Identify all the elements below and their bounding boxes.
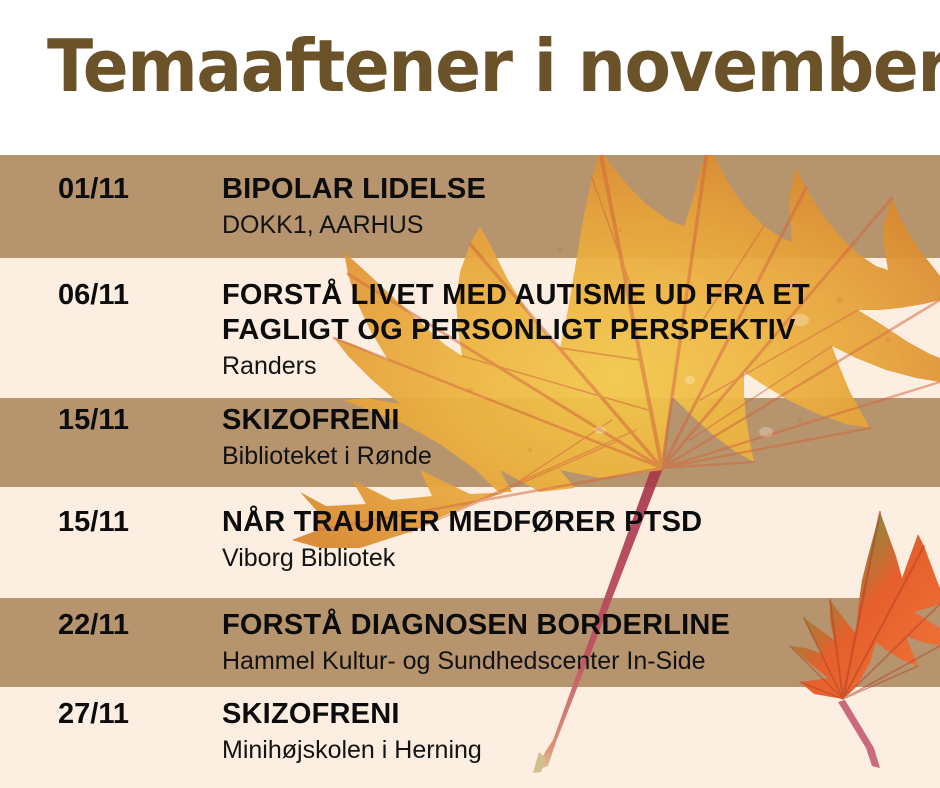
event-title: SKIZOFRENI [222,697,922,732]
event-title: FORSTÅ DIAGNOSEN BORDERLINE [222,608,922,643]
event-body: FORSTÅ LIVET MED AUTISME UD FRA ET FAGLI… [222,278,922,382]
event-body: FORSTÅ DIAGNOSEN BORDERLINE Hammel Kultu… [222,608,922,677]
page-title: Temaaftener i november [47,26,940,106]
event-title: FORSTÅ LIVET MED AUTISME UD FRA ET FAGLI… [222,278,922,348]
event-title: SKIZOFRENI [222,403,922,438]
event-date: 15/11 [58,505,208,539]
event-date: 15/11 [58,403,208,437]
event-date: 01/11 [58,172,208,206]
event-venue: DOKK1, AARHUS [222,210,922,241]
event-title: NÅR TRAUMER MEDFØRER PTSD [222,505,922,540]
event-body: SKIZOFRENI Minihøjskolen i Herning [222,697,922,766]
event-date: 22/11 [58,608,208,642]
event-body: BIPOLAR LIDELSE DOKK1, AARHUS [222,172,922,241]
event-body: SKIZOFRENI Biblioteket i Rønde [222,403,922,472]
event-date: 06/11 [58,278,208,312]
event-venue: Minihøjskolen i Herning [222,735,922,766]
event-venue: Hammel Kultur- og Sundhedscenter In-Side [222,646,922,677]
event-body: NÅR TRAUMER MEDFØRER PTSD Viborg Bibliot… [222,505,922,574]
event-venue: Randers [222,351,922,382]
poster-canvas: Temaaftener i november 01/11 BIPOLAR LID… [0,0,940,788]
event-title: BIPOLAR LIDELSE [222,172,922,207]
event-venue: Biblioteket i Rønde [222,441,922,472]
event-venue: Viborg Bibliotek [222,543,922,574]
event-date: 27/11 [58,697,208,731]
title-bar: Temaaftener i november [0,0,940,155]
